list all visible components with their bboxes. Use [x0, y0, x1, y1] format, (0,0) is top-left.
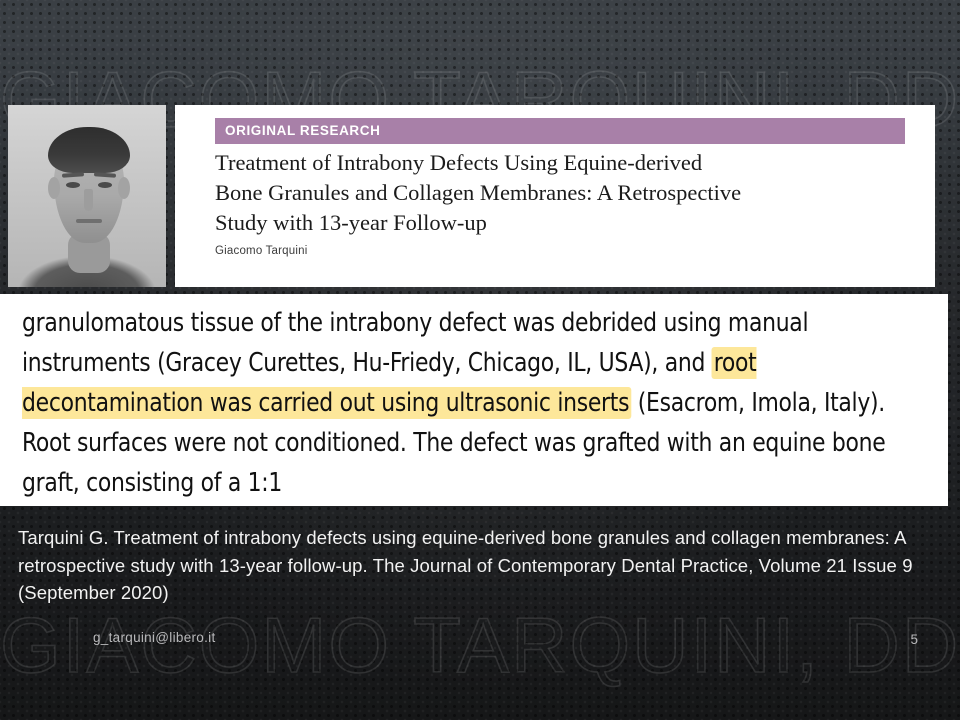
article-title: Treatment of Intrabony Defects Using Equ… — [215, 148, 905, 238]
body-text-part-1: granulomatous tissue of the intrabony de… — [22, 308, 808, 378]
body-text-panel: granulomatous tissue of the intrabony de… — [0, 294, 948, 506]
slide-number: 5 — [0, 632, 918, 647]
citation-reference: Tarquini G. Treatment of intrabony defec… — [18, 524, 943, 607]
original-research-banner: ORIGINAL RESEARCH — [215, 118, 905, 144]
photo-ear-right — [118, 177, 130, 199]
photo-ear-left — [48, 177, 60, 199]
original-research-label: ORIGINAL RESEARCH — [215, 118, 905, 144]
article-title-line-3: Study with 13-year Follow-up — [215, 208, 905, 238]
photo-nose — [84, 189, 93, 211]
photo-mouth — [76, 219, 102, 223]
photo-eye-left — [66, 182, 80, 188]
photo-hair — [48, 127, 130, 173]
article-title-line-1: Treatment of Intrabony Defects Using Equ… — [215, 148, 905, 178]
journal-article-card: ORIGINAL RESEARCH Treatment of Intrabony… — [175, 105, 935, 287]
body-paragraph: granulomatous tissue of the intrabony de… — [22, 303, 893, 503]
article-title-line-2: Bone Granules and Collagen Membranes: A … — [215, 178, 905, 208]
portrait-photo — [8, 105, 166, 287]
presentation-slide: GIACOMO TARQUINI, DDS GIACOMO TARQUINI, … — [0, 0, 960, 720]
article-author-byline: Giacomo Tarquini — [215, 245, 307, 257]
photo-eye-right — [98, 182, 112, 188]
